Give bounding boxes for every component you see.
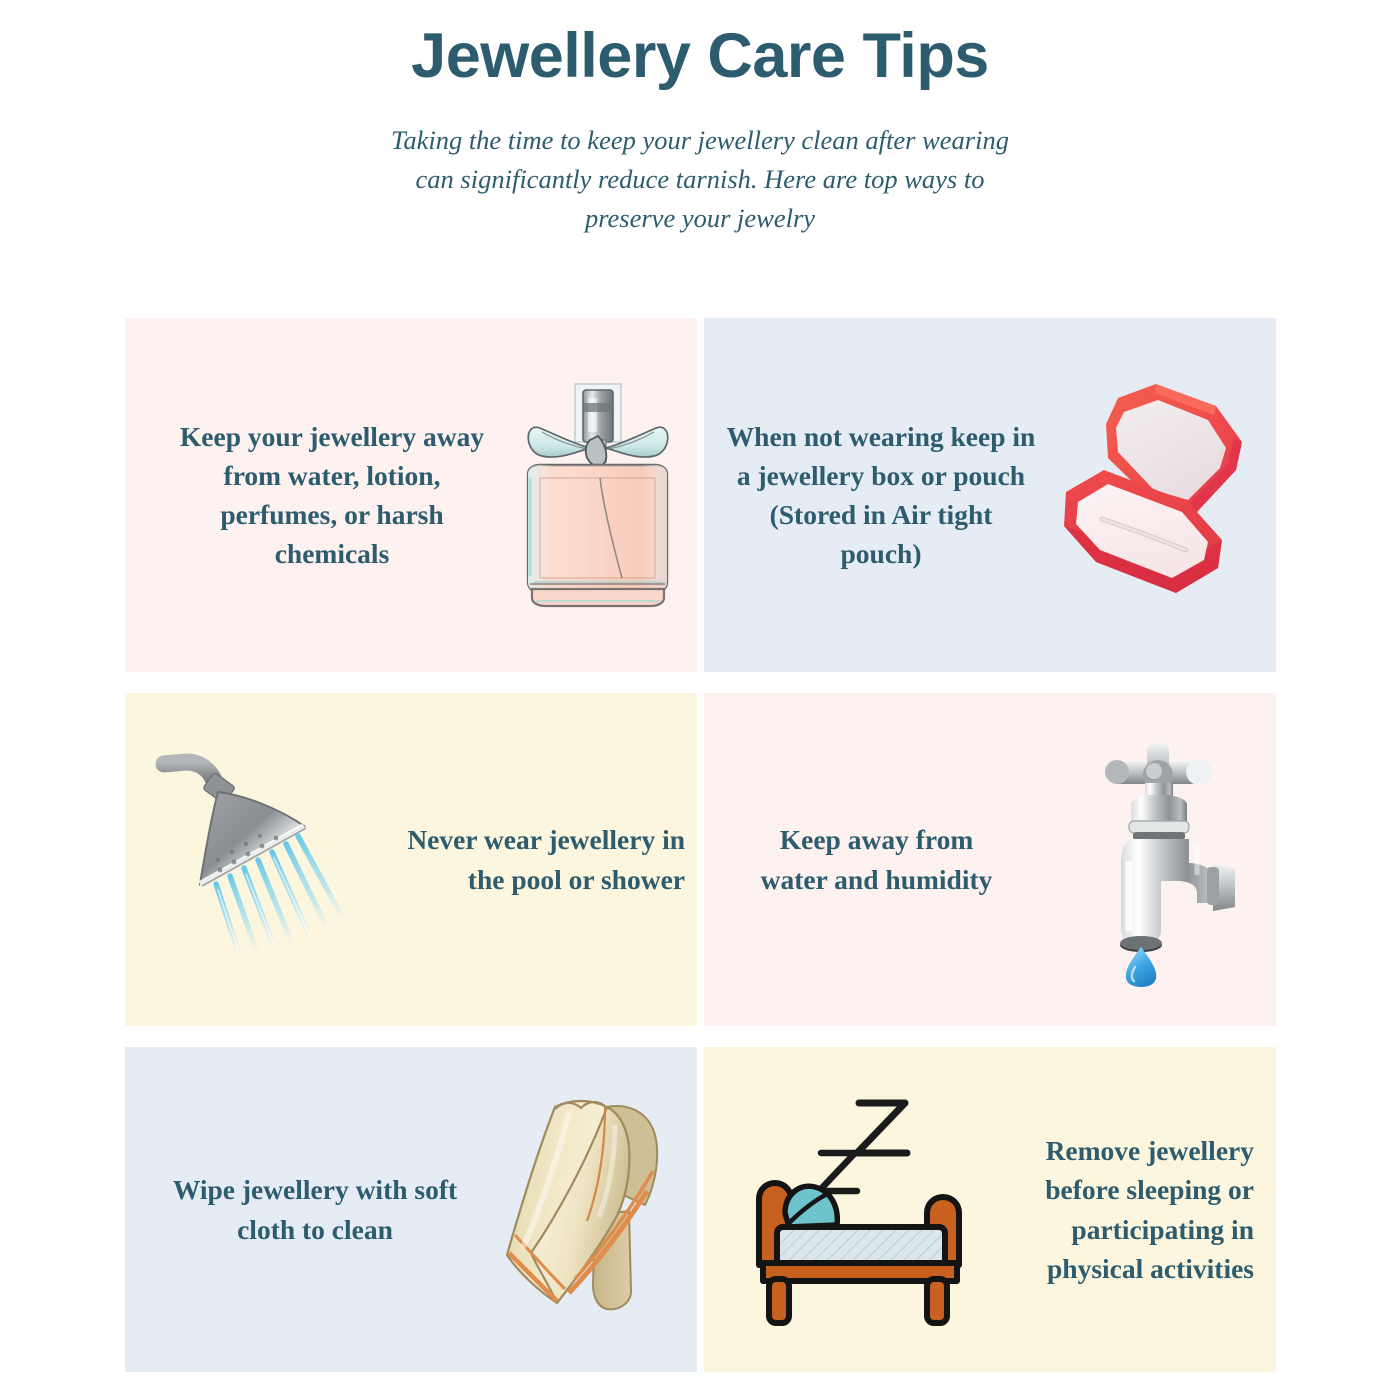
tips-grid: Keep your jewellery away from water, lot… — [125, 318, 1276, 1372]
card-faucet: Keep away from water and humidity — [704, 693, 1276, 1026]
header: Jewellery Care Tips Taking the time to k… — [0, 0, 1400, 239]
card-bed: Remove jewellery before sleeping or part… — [704, 1047, 1276, 1372]
card-shower-text: Never wear jewellery in the pool or show… — [395, 820, 685, 898]
soft-cloth-icon — [490, 1095, 690, 1325]
page-title: Jewellery Care Tips — [0, 22, 1400, 90]
ring-box-icon — [1056, 380, 1271, 610]
infographic-page: Jewellery Care Tips Taking the time to k… — [0, 0, 1400, 1400]
card-bed-text: Remove jewellery before sleeping or part… — [1004, 1131, 1254, 1287]
card-perfume-text: Keep your jewellery away from water, lot… — [167, 417, 497, 573]
card-perfume: Keep your jewellery away from water, lot… — [125, 318, 697, 672]
card-shower: Never wear jewellery in the pool or show… — [125, 693, 697, 1026]
page-subtitle: Taking the time to keep your jewellery c… — [385, 121, 1015, 239]
perfume-bottle-icon — [505, 370, 690, 620]
shower-head-icon — [155, 752, 385, 967]
bed-sleeping-icon — [734, 1095, 984, 1325]
card-cloth-text: Wipe jewellery with soft cloth to clean — [165, 1170, 465, 1248]
card-jewellery-box: When not wearing keep in a jewellery box… — [704, 318, 1276, 672]
card-cloth: Wipe jewellery with soft cloth to clean — [125, 1047, 697, 1372]
card-jewellery-box-text: When not wearing keep in a jewellery box… — [726, 417, 1036, 573]
card-faucet-text: Keep away from water and humidity — [744, 820, 1009, 898]
faucet-icon — [1044, 735, 1269, 985]
